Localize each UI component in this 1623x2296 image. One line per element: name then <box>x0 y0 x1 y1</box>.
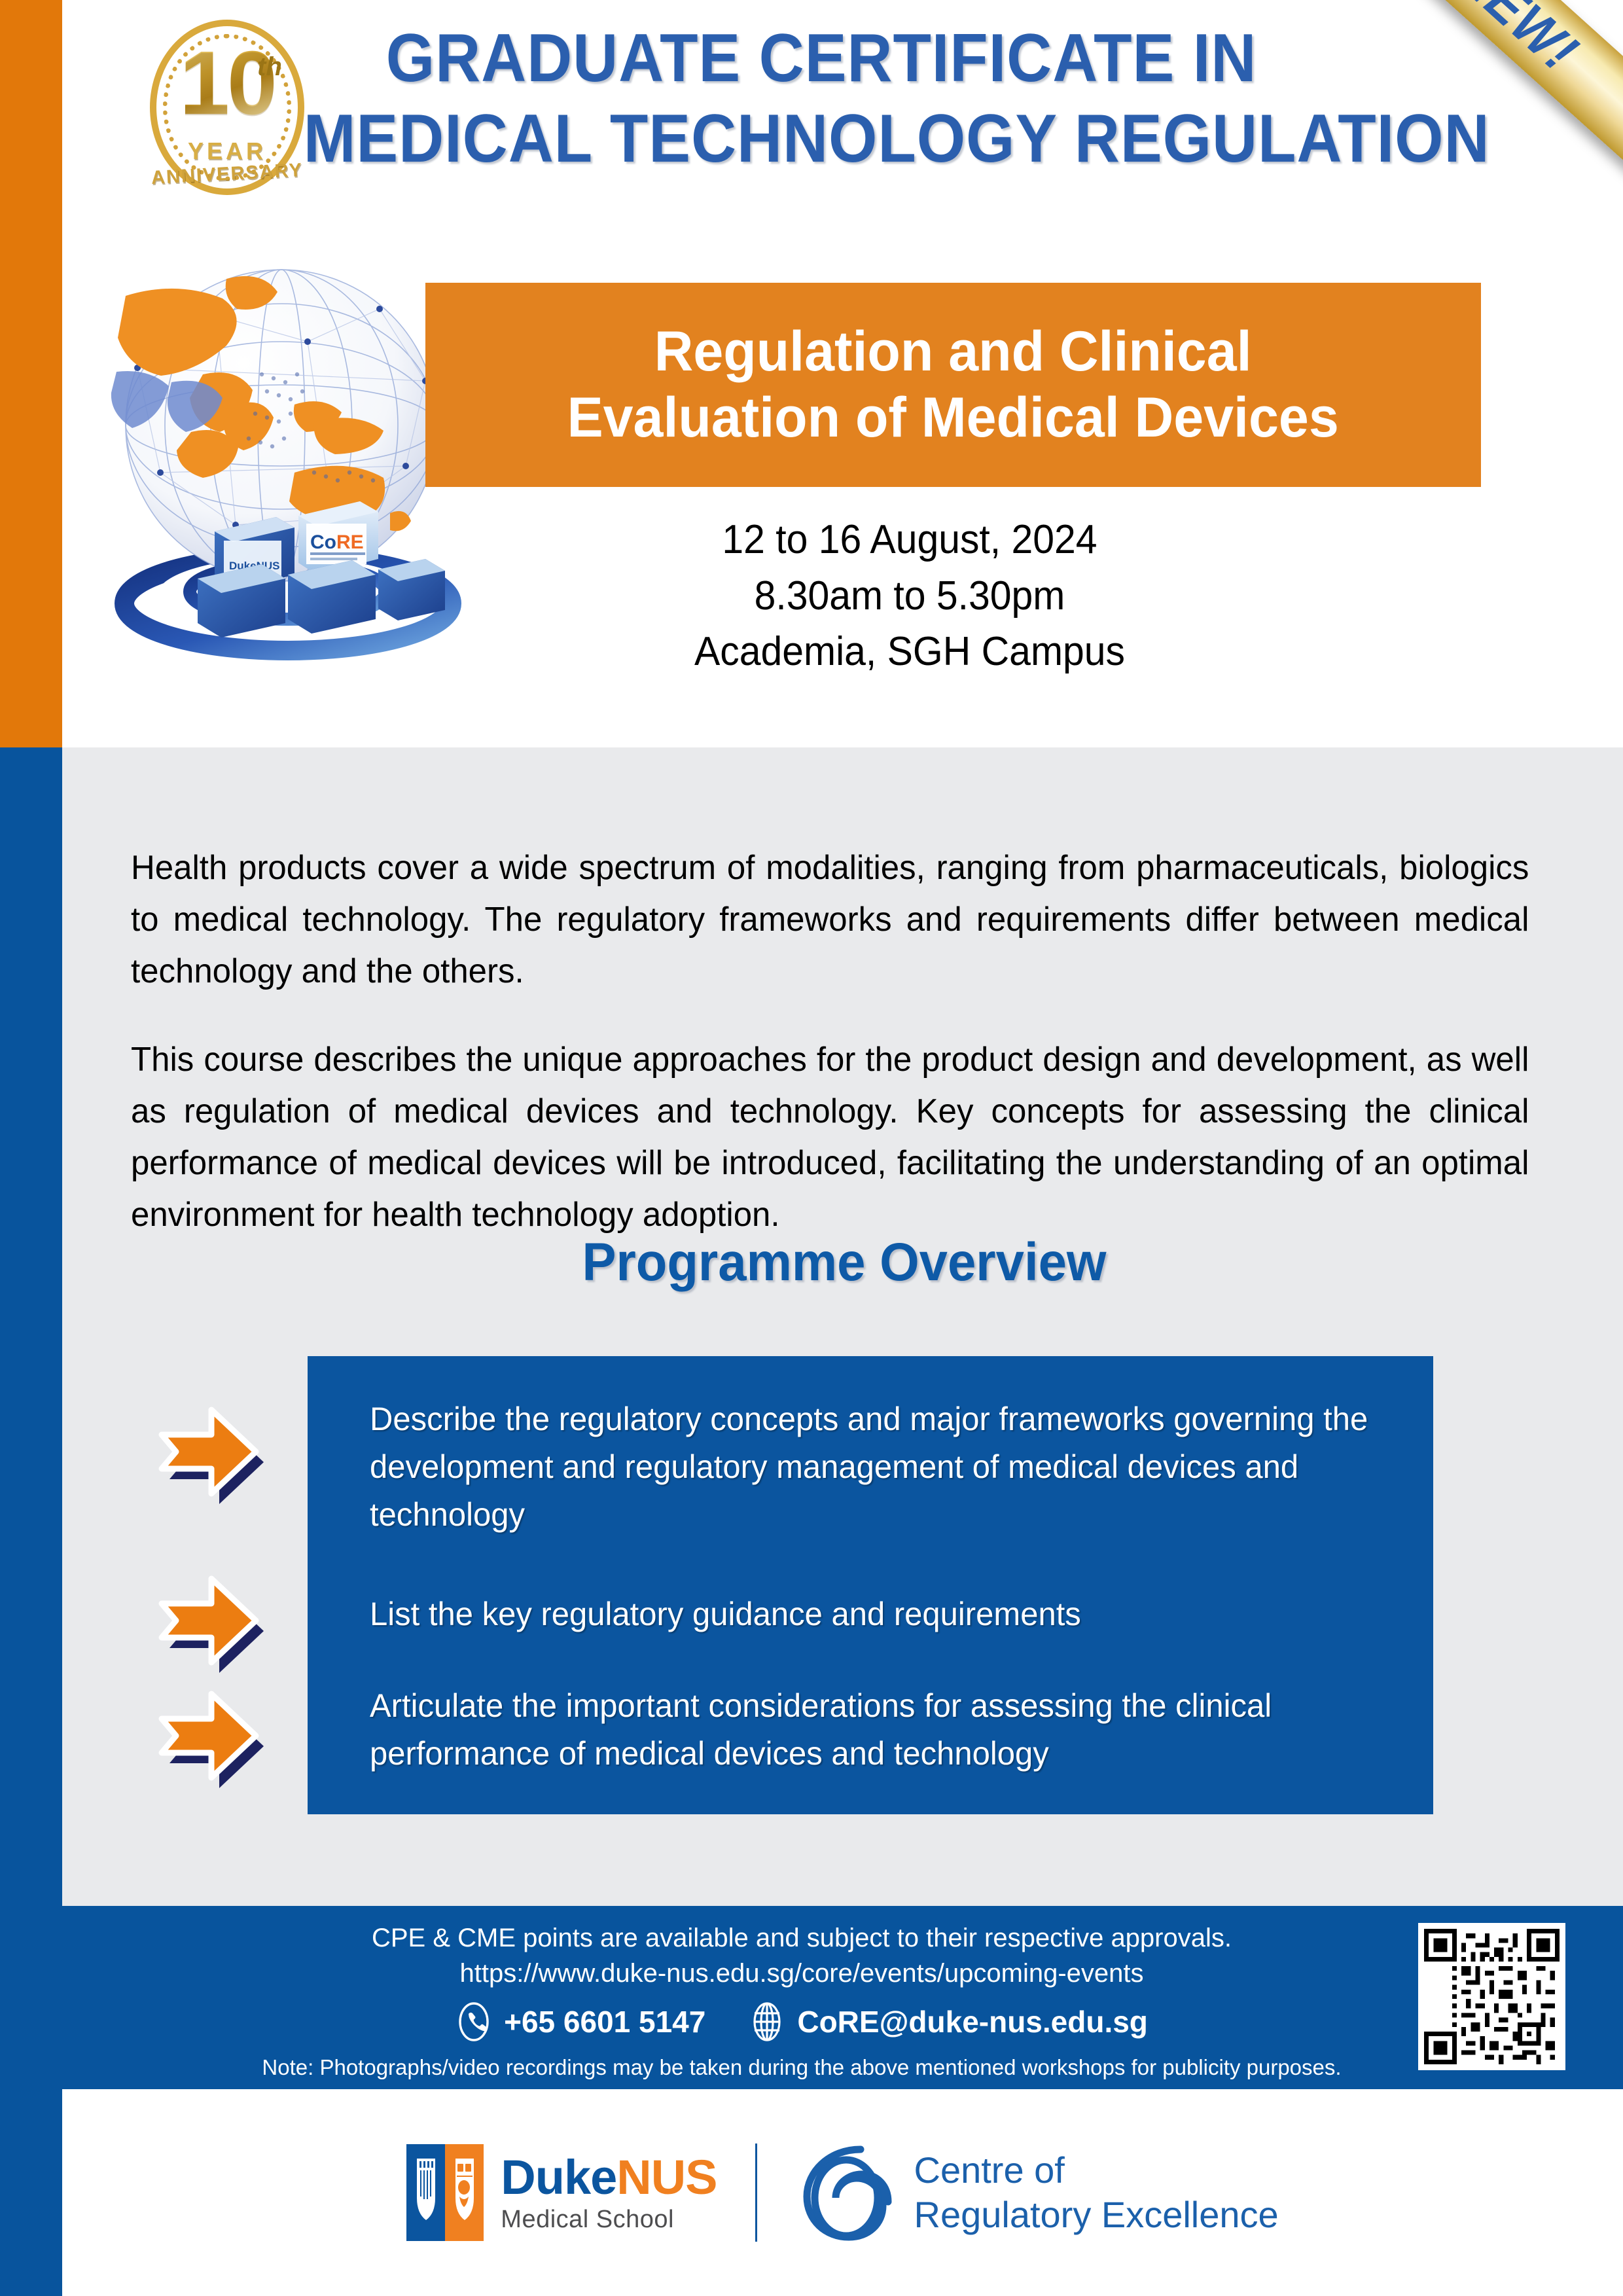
contact-row: +65 6601 5147 CoRE@duke-nus.edu.sg <box>180 2001 1423 2042</box>
programme-overview-heading: Programme Overview <box>167 1232 1522 1293</box>
poster-page: 10 th YEAR ANNIVERSARY GRADUATE CERTIFIC… <box>0 0 1623 2296</box>
email-contact[interactable]: CoRE@duke-nus.edu.sg <box>749 2001 1148 2042</box>
globe-graphic: DukeNUS CoRE <box>98 257 465 675</box>
footer-band: CPE & CME points are available and subje… <box>62 1906 1623 2089</box>
core-swirl-icon <box>795 2143 895 2242</box>
duke-nus-name: DukeNUS <box>501 2153 717 2202</box>
list-item-text: Describe the regulatory concepts and maj… <box>370 1395 1377 1539</box>
event-details: 12 to 16 August, 2024 8.30am to 5.30pm A… <box>450 512 1370 680</box>
duke-nus-logo: DukeNUS Medical School <box>406 2144 717 2241</box>
phone-icon <box>455 2001 492 2042</box>
programme-overview-list: Describe the regulatory concepts and maj… <box>308 1356 1472 1814</box>
paragraph-2: This course describes the unique approac… <box>131 1034 1529 1241</box>
duke-nus-subtitle: Medical School <box>501 2207 717 2232</box>
description-text: Health products cover a wide spectrum of… <box>131 842 1529 1278</box>
nus-shield-icon <box>445 2144 484 2241</box>
globe-icon <box>749 2001 785 2042</box>
photo-recording-note: Note: Photographs/video recordings may b… <box>180 2055 1423 2080</box>
left-sidebar-orange <box>0 0 62 747</box>
body-section: Health products cover a wide spectrum of… <box>62 747 1623 1906</box>
course-title-line-2: Evaluation of Medical Devices <box>567 385 1339 451</box>
nus-word: NUS <box>616 2150 717 2204</box>
cpe-cme-note: CPE & CME points are available and subje… <box>180 1920 1423 1956</box>
core-line-2: Regulatory Excellence <box>914 2193 1279 2237</box>
arrow-right-icon <box>134 1384 272 1508</box>
event-time: 8.30am to 5.30pm <box>450 568 1370 624</box>
duke-nus-shields-icon <box>406 2144 484 2241</box>
phone-contact[interactable]: +65 6601 5147 <box>455 2001 705 2042</box>
duke-shield-icon <box>406 2144 445 2241</box>
event-venue: Academia, SGH Campus <box>450 624 1370 680</box>
title-line-1: GRADUATE CERTIFICATE IN <box>304 18 1339 99</box>
footer-text-group: CPE & CME points are available and subje… <box>180 1920 1423 2080</box>
phone-number: +65 6601 5147 <box>504 2004 705 2039</box>
list-item-text: List the key regulatory guidance and req… <box>370 1590 1377 1638</box>
qr-code[interactable] <box>1418 1923 1565 2070</box>
event-date: 12 to 16 August, 2024 <box>450 512 1370 568</box>
paragraph-1: Health products cover a wide spectrum of… <box>131 842 1529 997</box>
core-logo: Centre of Regulatory Excellence <box>795 2143 1279 2242</box>
course-title: Regulation and Clinical Evaluation of Me… <box>567 319 1339 452</box>
duke-word: Duke <box>501 2150 616 2204</box>
logo-divider <box>755 2144 757 2242</box>
title-line-2: MEDICAL TECHNOLOGY REGULATION <box>304 99 1339 179</box>
arrow-right-icon <box>134 1668 272 1792</box>
duke-nus-wordmark: DukeNUS Medical School <box>501 2153 717 2232</box>
course-title-line-1: Regulation and Clinical <box>567 319 1339 385</box>
page-title: GRADUATE CERTIFICATE IN MEDICAL TECHNOLO… <box>259 18 1384 179</box>
left-sidebar-blue <box>0 747 62 2296</box>
globe-cube-right-label: CoRE <box>310 531 364 553</box>
hero-section: DukeNUS CoRE <box>62 283 1623 747</box>
email-address: CoRE@duke-nus.edu.sg <box>797 2004 1148 2039</box>
logo-row: DukeNUS Medical School Centre of Regulat… <box>62 2089 1623 2296</box>
new-ribbon-label: NEW! <box>1446 0 1591 84</box>
core-line-1: Centre of <box>914 2148 1279 2193</box>
course-title-banner: Regulation and Clinical Evaluation of Me… <box>425 283 1481 487</box>
arrow-right-icon <box>134 1552 272 1677</box>
core-wordmark: Centre of Regulatory Excellence <box>914 2148 1279 2238</box>
events-url[interactable]: https://www.duke-nus.edu.sg/core/events/… <box>180 1956 1423 1991</box>
list-item-text: Articulate the important considerations … <box>370 1682 1377 1778</box>
header: 10 th YEAR ANNIVERSARY GRADUATE CERTIFIC… <box>62 0 1623 283</box>
